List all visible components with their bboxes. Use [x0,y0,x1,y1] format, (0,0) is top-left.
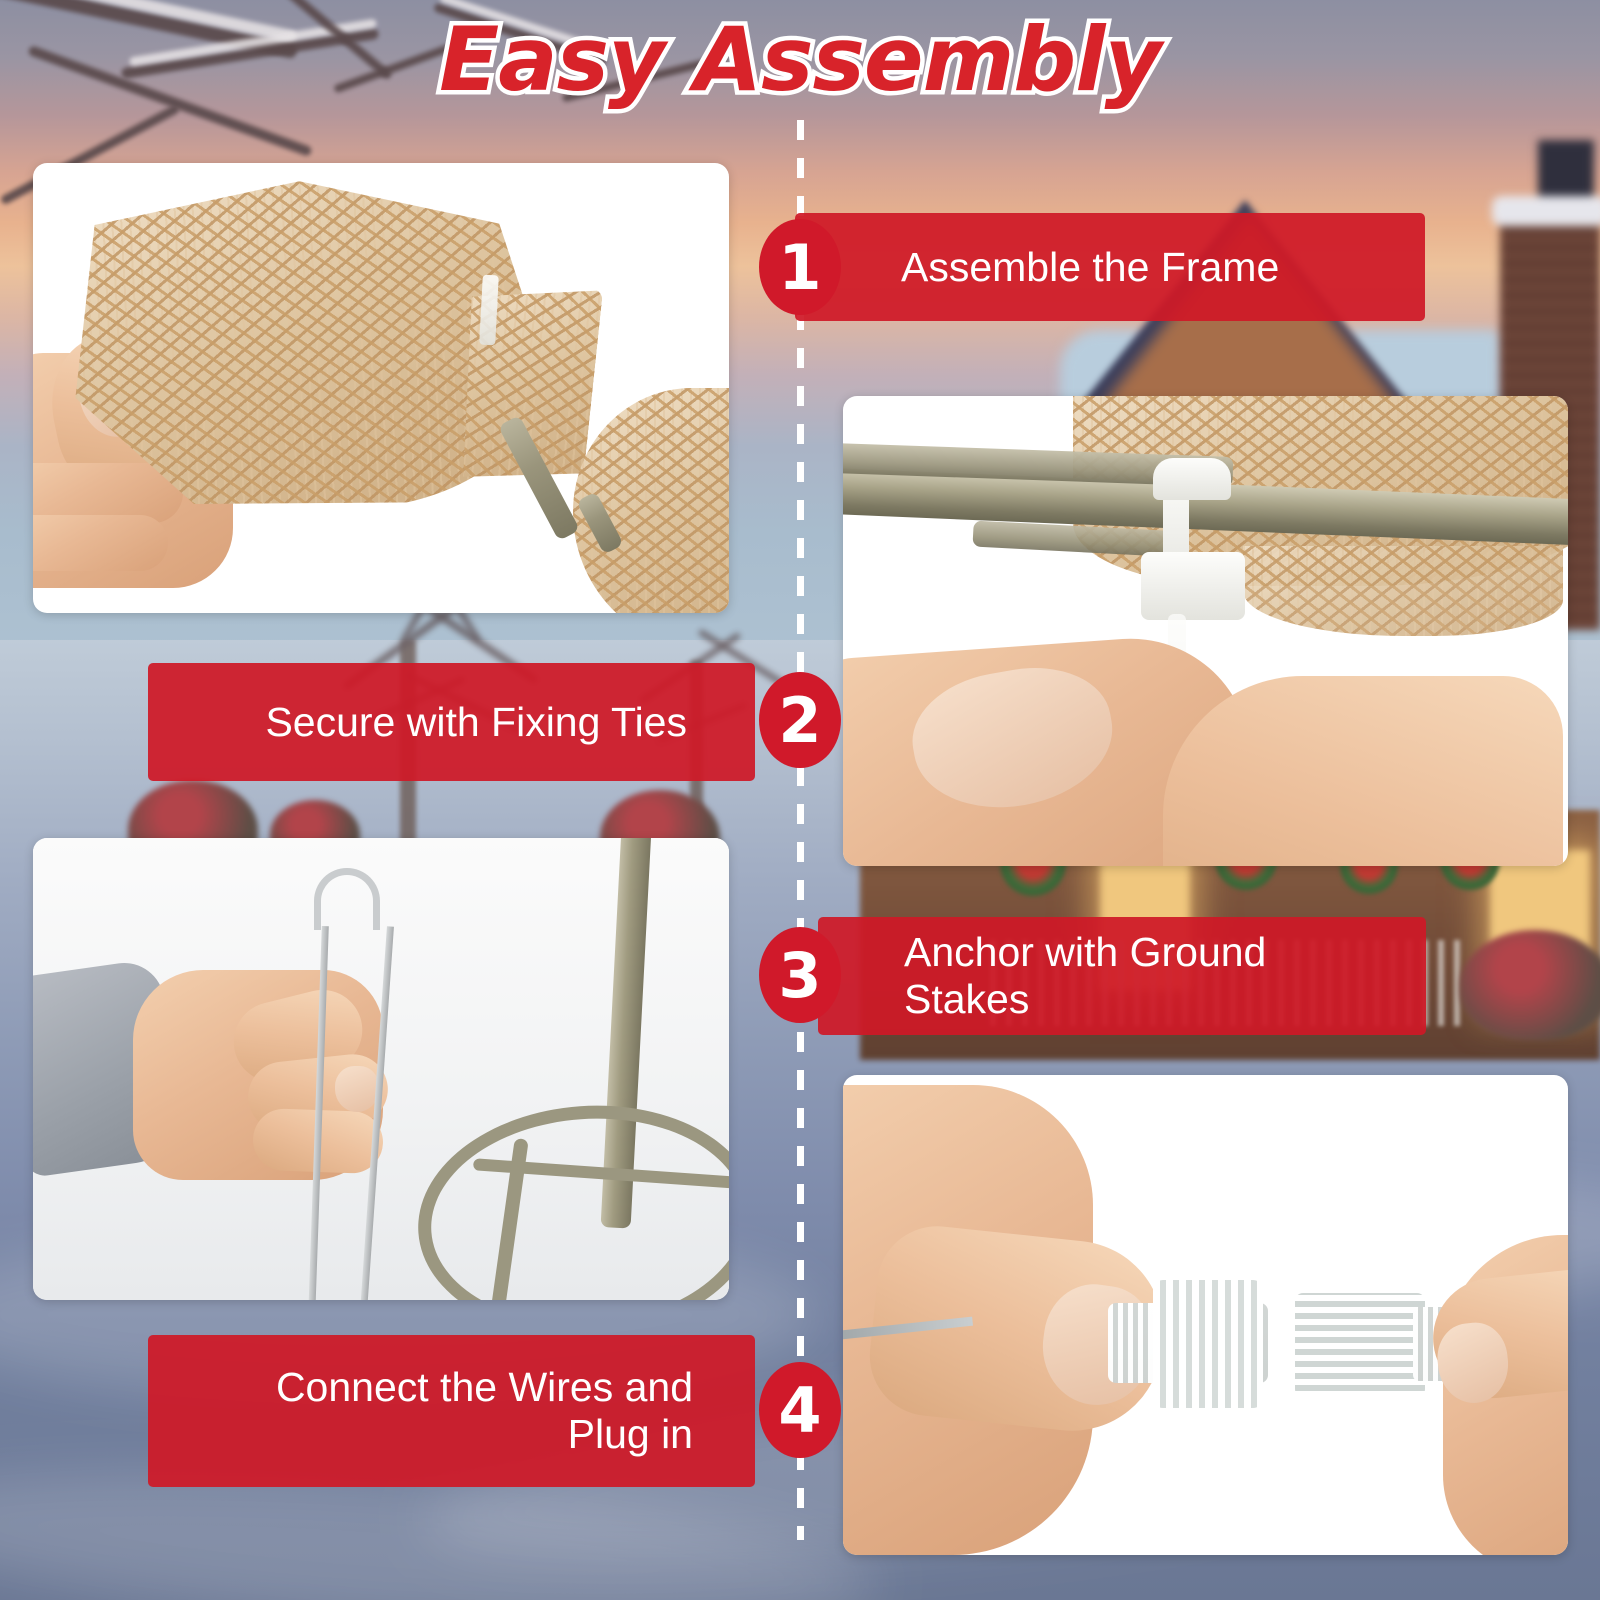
chimney-cap [1538,140,1594,204]
decorated-shrub [1460,930,1600,1040]
step-label-3: Anchor with Ground Stakes [904,929,1334,1022]
step-badge-2: 2 [759,672,841,768]
stake-u-bend [314,868,380,930]
timeline-dashed-line [797,120,804,1540]
zip-tie-top-loop [1153,458,1231,500]
step-photo-card-3 [33,838,729,1300]
photo-assemble-frame [33,163,729,613]
rattan-mesh-lower [1243,546,1563,636]
wire-connector-male-thread [1295,1293,1425,1397]
photo-connect-wires [843,1075,1568,1555]
fingernail [335,1066,379,1112]
zip-tie-head [1141,552,1245,620]
index-finger [1163,676,1563,866]
step-photo-card-4 [843,1075,1568,1555]
page-title: Easy Assembly [0,8,1600,111]
step-photo-card-2 [843,396,1568,866]
step-badge-3: 3 [759,927,841,1023]
step-photo-card-1 [33,163,729,613]
step-banner-2: Secure with Fixing Ties [148,663,755,781]
photo-fixing-ties [843,396,1568,866]
step-banner-1: Assemble the Frame [795,213,1425,321]
step-label-1: Assemble the Frame [901,244,1279,291]
step-badge-1: 1 [759,219,841,315]
step-badge-4: 4 [759,1362,841,1458]
photo-ground-stakes [33,838,729,1300]
step-label-4: Connect the Wires and Plug in [223,1364,693,1457]
finger [33,515,168,571]
step-banner-3: Anchor with Ground Stakes [818,917,1426,1035]
step-banner-4: Connect the Wires and Plug in [148,1335,755,1487]
wire-connector-female-cap [1153,1280,1263,1408]
chimney-snow [1492,196,1600,226]
step-label-2: Secure with Fixing Ties [265,699,687,746]
